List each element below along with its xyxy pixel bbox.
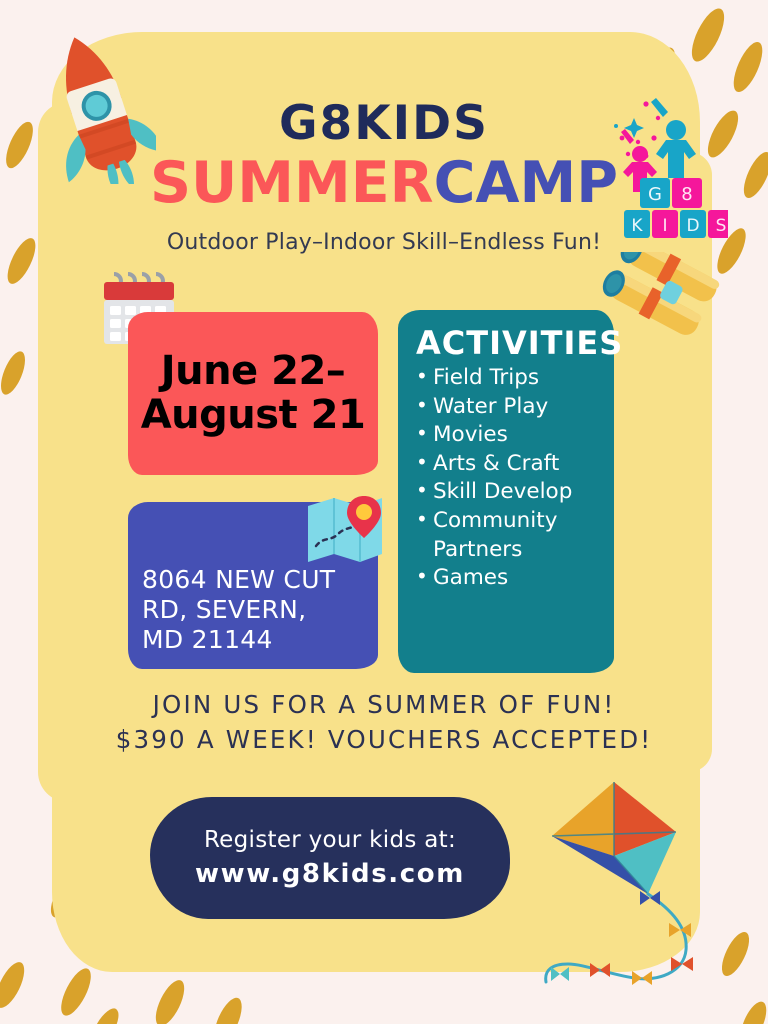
- camp-dates-card: June 22– August 21: [128, 312, 378, 475]
- camp-dates-line2: August 21: [141, 394, 366, 437]
- camp-dates-text: June 22– August 21: [141, 350, 366, 436]
- figure-large: [651, 98, 696, 178]
- address-line2: RD, SEVERN,: [142, 595, 335, 625]
- address-line1: 8064 NEW CUT: [142, 565, 335, 595]
- callout-line2: $390 A WEEK! VOUCHERS ACCEPTED!: [0, 723, 768, 758]
- activity-item-continuation: Partners: [416, 536, 606, 565]
- activity-item: Games: [416, 564, 606, 593]
- svg-text:K: K: [631, 216, 643, 236]
- activity-item: Arts & Craft: [416, 450, 606, 479]
- summer-camp-flyer: G8KIDS SUMMERCAMP Outdoor Play–Indoor Sk…: [0, 0, 768, 1024]
- activity-item: Community: [416, 507, 606, 536]
- callout-text: JOIN US FOR A SUMMER OF FUN! $390 A WEEK…: [0, 688, 768, 758]
- svg-text:8: 8: [681, 184, 692, 205]
- kite-illustration: [534, 778, 724, 990]
- camp-dates-line1: June 22–: [141, 350, 366, 393]
- map-pin-icon: [302, 492, 388, 568]
- svg-text:D: D: [686, 216, 699, 236]
- register-website[interactable]: www.g8kids.com: [195, 859, 465, 889]
- activity-item: Skill Develop: [416, 478, 606, 507]
- address-line3: MD 21144: [142, 625, 335, 655]
- title-camp: CAMP: [434, 150, 618, 216]
- camp-address-text: 8064 NEW CUT RD, SEVERN, MD 21144: [142, 565, 335, 655]
- activity-item: Field Trips: [416, 364, 606, 393]
- activities-title: ACTIVITIES: [416, 324, 606, 362]
- activity-item: Movies: [416, 421, 606, 450]
- register-card[interactable]: Register your kids at: www.g8kids.com: [150, 797, 510, 919]
- register-prompt: Register your kids at:: [204, 827, 456, 853]
- title-summer: SUMMER: [150, 150, 434, 216]
- g8kids-logo: G 8 K I D S: [612, 92, 728, 240]
- activities-list: Field Trips Water Play Movies Arts & Cra…: [416, 364, 606, 593]
- activities-card: ACTIVITIES Field Trips Water Play Movies…: [398, 310, 614, 673]
- callout-line1: JOIN US FOR A SUMMER OF FUN!: [0, 688, 768, 723]
- rocket-illustration: [36, 24, 156, 184]
- activity-item: Water Play: [416, 393, 606, 422]
- svg-text:G: G: [648, 184, 662, 205]
- svg-text:S: S: [716, 216, 727, 236]
- svg-text:I: I: [662, 216, 667, 236]
